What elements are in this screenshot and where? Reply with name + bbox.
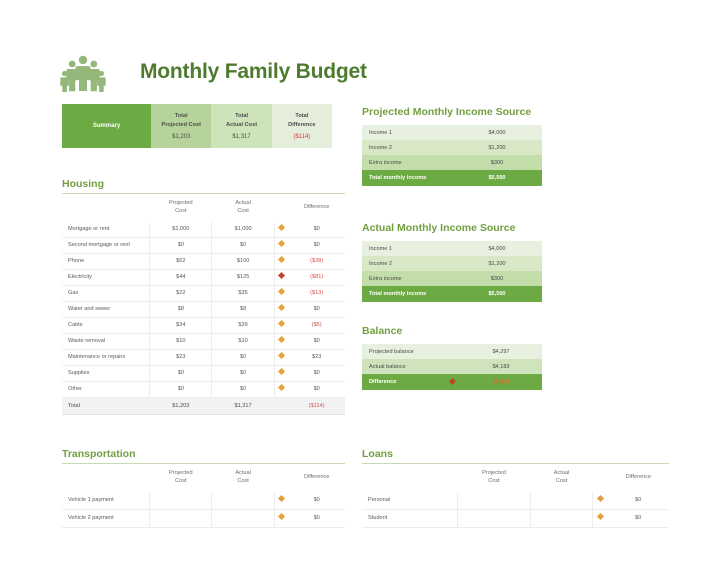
row-projected: $0 [150,381,212,397]
balance-title: Balance [362,325,542,340]
row-projected: $62 [150,253,212,269]
row-actual: $10 [212,333,274,349]
table-row: Second mortgage or rent$0$0$0 [62,237,345,253]
row-label: Income 1 [362,241,452,256]
variance-indicator-icon [274,492,288,510]
variance-indicator-icon [274,349,288,365]
variance-indicator-icon [592,509,607,527]
table-row: Extra income $300 [362,271,542,286]
summary-header-difference: Total Difference [272,104,332,132]
total-value: $5,500 [452,170,542,186]
row-actual: $39 [212,317,274,333]
row-projected [457,492,531,510]
loans-section: Loans Projected Cost Actual Cost Differe… [362,448,669,528]
difference-value: ($114) [460,374,542,390]
row-difference: $23 [288,349,345,365]
row-difference: ($13) [288,285,345,301]
row-projected: $0 [150,237,212,253]
table-row: Supplies$0$0$0 [62,365,345,381]
row-projected: $34 [150,317,212,333]
summary-label: Summary [62,104,151,148]
row-label: Student [362,509,457,527]
table-row: Waste removal$10$10$0 [62,333,345,349]
row-actual: $35 [212,285,274,301]
housing-title: Housing [62,178,345,193]
row-difference: $0 [288,381,345,397]
table-row: Income 1 $4,000 [362,125,542,140]
row-projected: $23 [150,349,212,365]
row-label: Income 2 [362,140,452,155]
variance-indicator-icon [274,237,288,253]
table-row: Maintenance or repairs$23$0$23 [62,349,345,365]
balance-table: Projected balance $4,297 Actual balance … [362,344,542,390]
total-label: Total monthly income [362,286,452,302]
row-projected: $1,000 [150,222,212,238]
actual-income-total-row: Total monthly income $5,500 [362,286,542,302]
row-difference: ($38) [288,253,345,269]
row-label: Water and sewer [62,301,150,317]
table-row: Extra income $300 [362,155,542,170]
variance-indicator-icon [274,381,288,397]
row-label: Phone [62,253,150,269]
row-difference: ($81) [288,269,345,285]
header-difference: Difference [608,464,669,492]
projected-income-total-row: Total monthly income $5,500 [362,170,542,186]
balance-section: Balance Projected balance $4,297 Actual … [362,325,542,390]
row-actual [531,509,592,527]
row-projected: $10 [150,333,212,349]
summary-value-difference: ($114) [272,132,332,148]
transportation-title: Transportation [62,448,345,463]
variance-indicator-icon [274,285,288,301]
actual-income-table: Income 1 $4,000 Income 2 $1,200 Extra in… [362,241,542,302]
row-difference: $0 [288,301,345,317]
variance-indicator-icon [274,301,288,317]
total-value: $5,500 [452,286,542,302]
housing-section: Housing Projected Cost Actual Cost Diffe… [62,178,345,415]
table-row: Income 2 $1,200 [362,256,542,271]
row-actual: $1,000 [212,222,274,238]
row-label: Personal [362,492,457,510]
row-actual: $8 [212,301,274,317]
row-difference: $0 [608,509,669,527]
loans-table: Projected Cost Actual Cost Difference Pe… [362,464,669,528]
table-row: Income 2 $1,200 [362,140,542,155]
table-row: Student$0 [362,509,669,527]
projected-income-title: Projected Monthly Income Source [362,106,542,121]
header-actual-cost: Actual Cost [212,194,274,222]
row-label: Vehicle 2 payment [62,509,150,527]
projected-income-section: Projected Monthly Income Source Income 1… [362,106,542,186]
row-difference: $0 [288,365,345,381]
row-actual [212,509,274,527]
housing-table: Projected Cost Actual Cost Difference Mo… [62,194,345,415]
variance-indicator-icon [274,509,288,527]
row-value: $1,200 [452,256,542,271]
row-projected: $22 [150,285,212,301]
housing-total-row: Total $1,203 $1,317 ($114) [62,397,345,414]
total-label: Total monthly income [362,170,452,186]
row-projected [457,509,531,527]
header-actual-cost: Actual Cost [531,464,592,492]
row-difference: ($5) [288,317,345,333]
row-actual: $100 [212,253,274,269]
row-label: Income 1 [362,125,452,140]
header-projected-cost: Projected Cost [150,464,212,492]
row-projected: $44 [150,269,212,285]
row-label: Electricity [62,269,150,285]
table-row: Gas$22$35($13) [62,285,345,301]
table-row: Personal$0 [362,492,669,510]
variance-indicator-icon [592,492,607,510]
row-label: Other [62,381,150,397]
row-label: Vehicle 1 payment [62,492,150,510]
row-label: Supplies [62,365,150,381]
row-difference: $0 [288,509,345,527]
row-label: Second mortgage or rent [62,237,150,253]
row-label: Extra income [362,155,452,170]
row-difference: $0 [608,492,669,510]
housing-total-projected: $1,203 [150,397,212,414]
page-title: Monthly Family Budget [140,60,367,84]
row-label: Gas [62,285,150,301]
table-row: Actual balance $4,183 [362,359,542,374]
header-difference: Difference [288,194,345,222]
variance-indicator-icon [274,333,288,349]
row-actual: $125 [212,269,274,285]
row-label: Waste removal [62,333,150,349]
housing-total-label: Total [62,397,150,414]
table-row: Water and sewer$8$8$0 [62,301,345,317]
summary-band: Summary Total Projected Cost Total Actua… [62,104,332,148]
housing-column-headers: Projected Cost Actual Cost Difference [62,194,345,222]
row-value: $4,000 [452,241,542,256]
row-label: Income 2 [362,256,452,271]
row-actual [212,492,274,510]
variance-indicator-icon [274,222,288,238]
row-actual: $0 [212,237,274,253]
row-label: Projected balance [362,344,444,359]
row-value: $4,183 [460,359,542,374]
table-row: Income 1 $4,000 [362,241,542,256]
row-actual [531,492,592,510]
table-row: Projected balance $4,297 [362,344,542,359]
variance-indicator-icon [274,365,288,381]
page-header: Monthly Family Budget [60,48,680,96]
variance-indicator-icon [274,269,288,285]
row-difference: $0 [288,333,345,349]
row-label: Actual balance [362,359,444,374]
difference-label: Difference [362,374,444,390]
row-actual: $0 [212,381,274,397]
summary-value-actual: $1,317 [211,132,271,148]
row-value: $300 [452,271,542,286]
actual-income-section: Actual Monthly Income Source Income 1 $4… [362,222,542,302]
loans-column-headers: Projected Cost Actual Cost Difference [362,464,669,492]
summary-header-actual: Total Actual Cost [211,104,271,132]
row-value: $4,297 [460,344,542,359]
row-value: $300 [452,155,542,170]
transportation-section: Transportation Projected Cost Actual Cos… [62,448,345,528]
table-row: Other$0$0$0 [62,381,345,397]
summary-value-projected: $1,203 [151,132,211,148]
table-row: Electricity$44$125($81) [62,269,345,285]
row-value: $4,000 [452,125,542,140]
housing-total-difference: ($114) [288,397,345,414]
row-difference: $0 [288,237,345,253]
header-projected-cost: Projected Cost [150,194,212,222]
header-actual-cost: Actual Cost [212,464,274,492]
actual-income-title: Actual Monthly Income Source [362,222,542,237]
transportation-column-headers: Projected Cost Actual Cost Difference [62,464,345,492]
loans-title: Loans [362,448,669,463]
row-projected [150,509,212,527]
table-row: Mortgage or rent$1,000$1,000$0 [62,222,345,238]
table-row: Phone$62$100($38) [62,253,345,269]
row-actual: $0 [212,365,274,381]
row-projected: $0 [150,365,212,381]
variance-indicator-icon [274,317,288,333]
row-difference: $0 [288,222,345,238]
balance-difference-row: Difference ($114) [362,374,542,390]
table-row: Cable$34$39($5) [62,317,345,333]
row-label: Extra income [362,271,452,286]
table-row: Vehicle 1 payment$0 [62,492,345,510]
housing-total-actual: $1,317 [212,397,274,414]
row-label: Maintenance or repairs [62,349,150,365]
row-value: $1,200 [452,140,542,155]
row-label: Mortgage or rent [62,222,150,238]
row-projected [150,492,212,510]
row-projected: $8 [150,301,212,317]
row-difference: $0 [288,492,345,510]
difference-indicator-icon [444,374,460,390]
summary-header-projected: Total Projected Cost [151,104,211,132]
projected-income-table: Income 1 $4,000 Income 2 $1,200 Extra in… [362,125,542,186]
row-label: Cable [62,317,150,333]
header-difference: Difference [288,464,345,492]
family-icon [60,51,106,93]
table-row: Vehicle 2 payment$0 [62,509,345,527]
transportation-table: Projected Cost Actual Cost Difference Ve… [62,464,345,528]
row-actual: $0 [212,349,274,365]
header-projected-cost: Projected Cost [457,464,531,492]
variance-indicator-icon [274,253,288,269]
